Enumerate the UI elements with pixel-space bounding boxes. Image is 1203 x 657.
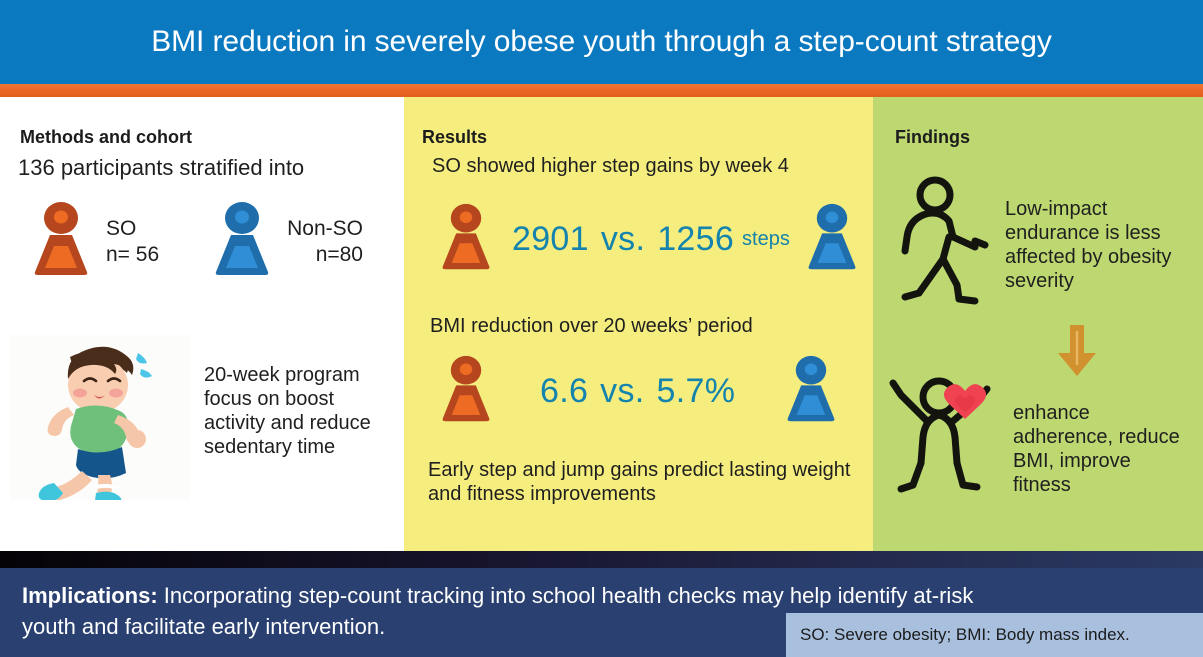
cohort-group-nonso: Non-SO n=80 (211, 201, 363, 282)
panel-results: Results SO showed higher step gains by w… (404, 97, 873, 551)
infographic-poster: BMI reduction in severely obese youth th… (0, 0, 1203, 657)
cohort-name-so: SO (106, 217, 136, 240)
step-gain-label: SO showed higher step gains by week 4 (432, 155, 789, 179)
cohort-count-nonso: n=80 (287, 242, 363, 267)
person-weight-icon-blue (211, 201, 273, 282)
results-heading: Results (422, 127, 487, 148)
program-block: 20-week program focus on boost activity … (10, 335, 379, 500)
person-weight-icon-orange (30, 201, 92, 282)
panel-findings: Findings (873, 97, 1203, 551)
person-weight-icon-orange (438, 355, 494, 428)
bmi-nonso-value: 5.7% (657, 372, 736, 411)
cohort-count-so: n= 56 (106, 242, 159, 267)
bmi-reduction-label: BMI reduction over 20 weeks’ period (430, 315, 753, 339)
finding-two-row: enhance adherence, reduce BMI, improve f… (887, 369, 1191, 502)
panels-container: Methods and cohort 136 participants stra… (0, 97, 1203, 551)
step-gain-so-value: 2901 (512, 220, 589, 259)
methods-heading: Methods and cohort (20, 127, 192, 148)
person-weight-icon-orange (438, 203, 494, 276)
bmi-vs: vs. (600, 372, 644, 411)
panel-methods-and-cohort: Methods and cohort 136 participants stra… (0, 97, 404, 551)
program-caption: 20-week program focus on boost activity … (204, 363, 379, 459)
cohort-label-nonso: Non-SO n=80 (287, 216, 363, 266)
cohort-group-so: SO n= 56 (30, 201, 159, 282)
cohort-label-so: SO n= 56 (106, 216, 159, 266)
participants-subtitle: 136 participants stratified into (18, 155, 304, 181)
page-title: BMI reduction in severely obese youth th… (0, 0, 1203, 84)
finding-one-text: Low-impact endurance is less affected by… (1005, 197, 1177, 293)
step-gain-nonso-value: 1256 (657, 220, 734, 259)
step-gain-unit: steps (742, 228, 790, 251)
implications-label: Implications: (22, 583, 158, 608)
person-weight-icon-blue (804, 203, 860, 276)
footer-gradient-divider (0, 551, 1203, 568)
cohort-name-nonso: Non-SO (287, 217, 363, 240)
bmi-so-value: 6.6 (540, 372, 588, 411)
celebrating-person-heart-icon (887, 369, 999, 502)
person-weight-icon-blue (783, 355, 839, 428)
findings-heading: Findings (895, 127, 970, 148)
results-conclusion: Early step and jump gains predict lastin… (428, 459, 858, 506)
step-gain-vs: vs. (601, 220, 645, 259)
legend-text: SO: Severe obesity; BMI: Body mass index… (786, 625, 1130, 645)
bmi-reduction-stat-row: 6.6 vs. 5.7% (438, 355, 858, 428)
running-boy-illustration (10, 335, 190, 500)
step-gain-stat-row: 2901 vs. 1256 steps (438, 203, 858, 276)
abbreviation-legend: SO: Severe obesity; BMI: Body mass index… (786, 613, 1203, 657)
cohort-row: SO n= 56 Non-SO (30, 201, 363, 282)
finding-two-text: enhance adherence, reduce BMI, improve f… (1013, 401, 1191, 497)
walking-person-icon (893, 175, 989, 310)
finding-one-row: Low-impact endurance is less affected by… (893, 175, 1177, 310)
header-accent-bar (0, 84, 1203, 97)
poster-header: BMI reduction in severely obese youth th… (0, 0, 1203, 84)
